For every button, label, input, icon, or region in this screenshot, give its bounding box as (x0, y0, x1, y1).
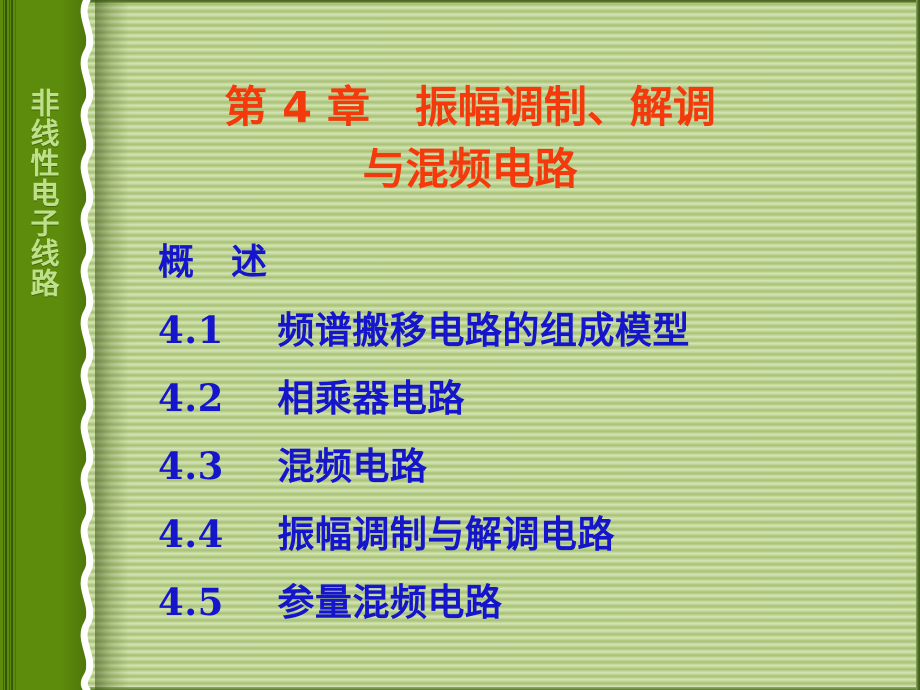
toc-item-4-5[interactable]: 4.5 参量混频电路 (158, 568, 898, 636)
toc-item-4-1[interactable]: 4.1 频谱搬移电路的组成模型 (158, 296, 898, 364)
sidebar-accent-line-1 (3, 0, 4, 690)
presentation-slide: 非线性电子线路 第 4 章 振幅调制、解调 与混频电路 概 述 4.1 频谱搬移… (0, 0, 920, 690)
toc-item-4-2[interactable]: 4.2 相乘器电路 (158, 364, 898, 432)
slide-title: 第 4 章 振幅调制、解调 与混频电路 (130, 78, 810, 200)
sidebar-accent-line-3 (9, 0, 10, 690)
toc-item-overview[interactable]: 概 述 (158, 228, 898, 296)
left-decorative-band: 非线性电子线路 (0, 0, 86, 690)
slide-title-line-1: 第 4 章 振幅调制、解调 (130, 78, 810, 138)
toc-item-4-3[interactable]: 4.3 混频电路 (158, 432, 898, 500)
sidebar-vertical-caption: 非线性电子线路 (30, 88, 62, 298)
slide-title-line-2: 与混频电路 (130, 140, 810, 200)
sidebar-accent-line-4 (11, 0, 13, 690)
sidebar-shading (60, 0, 86, 690)
sidebar-accent-line-5 (15, 0, 16, 690)
sidebar-accent-line-2 (5, 0, 7, 690)
table-of-contents: 概 述 4.1 频谱搬移电路的组成模型 4.2 相乘器电路 4.3 混频电路 4… (158, 228, 898, 636)
slide-content: 第 4 章 振幅调制、解调 与混频电路 概 述 4.1 频谱搬移电路的组成模型 … (130, 0, 920, 690)
toc-item-4-4[interactable]: 4.4 振幅调制与解调电路 (158, 500, 898, 568)
band-shadow-strip (95, 0, 129, 690)
